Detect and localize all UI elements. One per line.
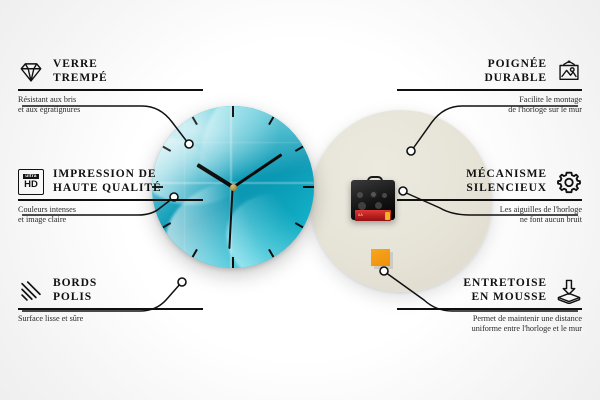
feature-title: POIGNÉE DURABLE (484, 58, 547, 85)
arrow-down-stack-icon (556, 278, 582, 304)
feature-poignee-durable: POIGNÉE DURABLE Facilite le montage de l… (397, 58, 582, 115)
feature-subtitle: Permet de maintenir une distance uniform… (397, 314, 582, 334)
mechanism-body: AA (351, 180, 395, 220)
feature-subtitle: Les aiguilles de l'horloge ne font aucun… (397, 205, 582, 225)
feature-verre-trempe: VERRE TREMPÉ Résistant aux bris et aux é… (18, 58, 203, 115)
feature-title: VERRE TREMPÉ (53, 58, 108, 85)
clock-mechanism: AA (351, 176, 395, 220)
divider (18, 308, 203, 310)
feature-mecanisme-silencieux: MÉCANISME SILENCIEUX Les aiguilles de l'… (397, 168, 582, 225)
feature-impression-haute-qualite: ultra HD IMPRESSION DE HAUTE QUALITÉ Cou… (18, 168, 203, 225)
divider (397, 199, 582, 201)
feature-subtitle: Facilite le montage de l'horloge sur le … (397, 95, 582, 115)
mechanism-detail (375, 202, 382, 209)
diamond-icon (18, 59, 44, 85)
battery: AA (355, 210, 391, 221)
mechanism-shaft (370, 191, 377, 198)
mechanism-detail (382, 193, 387, 198)
infographic-canvas: AA (0, 0, 600, 400)
mechanism-detail (357, 192, 363, 198)
feature-entretoise-en-mousse: ENTRETOISE EN MOUSSE Permet de maintenir… (397, 277, 582, 334)
divider (18, 89, 203, 91)
feature-title: ENTRETOISE EN MOUSSE (463, 277, 547, 304)
battery-terminal (385, 212, 390, 220)
feature-subtitle: Résistant aux bris et aux égratignures (18, 95, 203, 115)
battery-label: AA (358, 213, 363, 217)
polished-edge-icon (18, 278, 44, 304)
feature-bords-polis: BORDS POLIS Surface lisse et sûre (18, 277, 203, 324)
feature-subtitle: Couleurs intenses et image claire (18, 205, 203, 225)
feature-title: BORDS POLIS (53, 277, 97, 304)
feature-title: IMPRESSION DE HAUTE QUALITÉ (53, 168, 162, 195)
divider (397, 89, 582, 91)
gear-icon (556, 169, 582, 195)
foam-spacer (371, 249, 390, 266)
mechanism-detail (358, 202, 366, 210)
hanging-frame-icon (556, 59, 582, 85)
feature-subtitle: Surface lisse et sûre (18, 314, 203, 324)
ultra-hd-icon: ultra HD (18, 169, 44, 195)
divider (18, 199, 203, 201)
feature-title: MÉCANISME SILENCIEUX (466, 168, 547, 195)
divider (397, 308, 582, 310)
